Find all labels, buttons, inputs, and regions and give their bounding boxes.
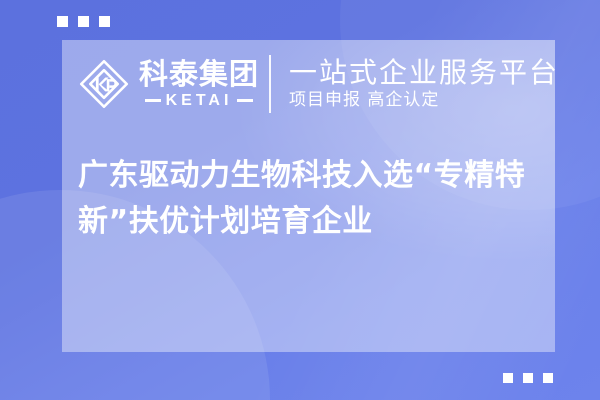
brand-name-en: KETAI bbox=[166, 93, 233, 109]
tagline-main: 一站式企业服务平台 bbox=[289, 58, 555, 87]
square-dot-icon bbox=[543, 373, 553, 383]
header-divider bbox=[269, 55, 271, 113]
square-dot-icon bbox=[523, 373, 533, 383]
promo-banner: 科泰集团 KETAI 一站式企业服务平台 项目申报 高企认定 广东驱动力生物科技… bbox=[0, 0, 600, 400]
rule-left bbox=[145, 99, 161, 102]
brand-name-cn: 科泰集团 bbox=[139, 60, 259, 89]
banner-header: 科泰集团 KETAI 一站式企业服务平台 项目申报 高企认定 bbox=[78, 45, 555, 123]
brand-logo[interactable]: 科泰集团 KETAI bbox=[78, 58, 259, 110]
tagline-block: 一站式企业服务平台 项目申报 高企认定 bbox=[289, 58, 555, 110]
rule-right bbox=[237, 99, 253, 102]
square-dot-icon bbox=[57, 16, 68, 27]
banner-headline: 广东驱动力生物科技入选“专精特新”扶优计划培育企业 bbox=[78, 153, 547, 244]
decorative-dots-bottom-right bbox=[503, 373, 553, 383]
square-dot-icon bbox=[78, 16, 89, 27]
square-dot-icon bbox=[503, 373, 513, 383]
decorative-dots-top-left bbox=[57, 16, 110, 27]
brand-name-en-row: KETAI bbox=[145, 93, 254, 109]
ketai-diamond-kp-logo-icon bbox=[78, 58, 130, 110]
content-panel: 科泰集团 KETAI 一站式企业服务平台 项目申报 高企认定 广东驱动力生物科技… bbox=[62, 40, 555, 352]
tagline-sub: 项目申报 高企认定 bbox=[289, 92, 555, 110]
brand-wordmark: 科泰集团 KETAI bbox=[139, 60, 259, 109]
square-dot-icon bbox=[99, 16, 110, 27]
